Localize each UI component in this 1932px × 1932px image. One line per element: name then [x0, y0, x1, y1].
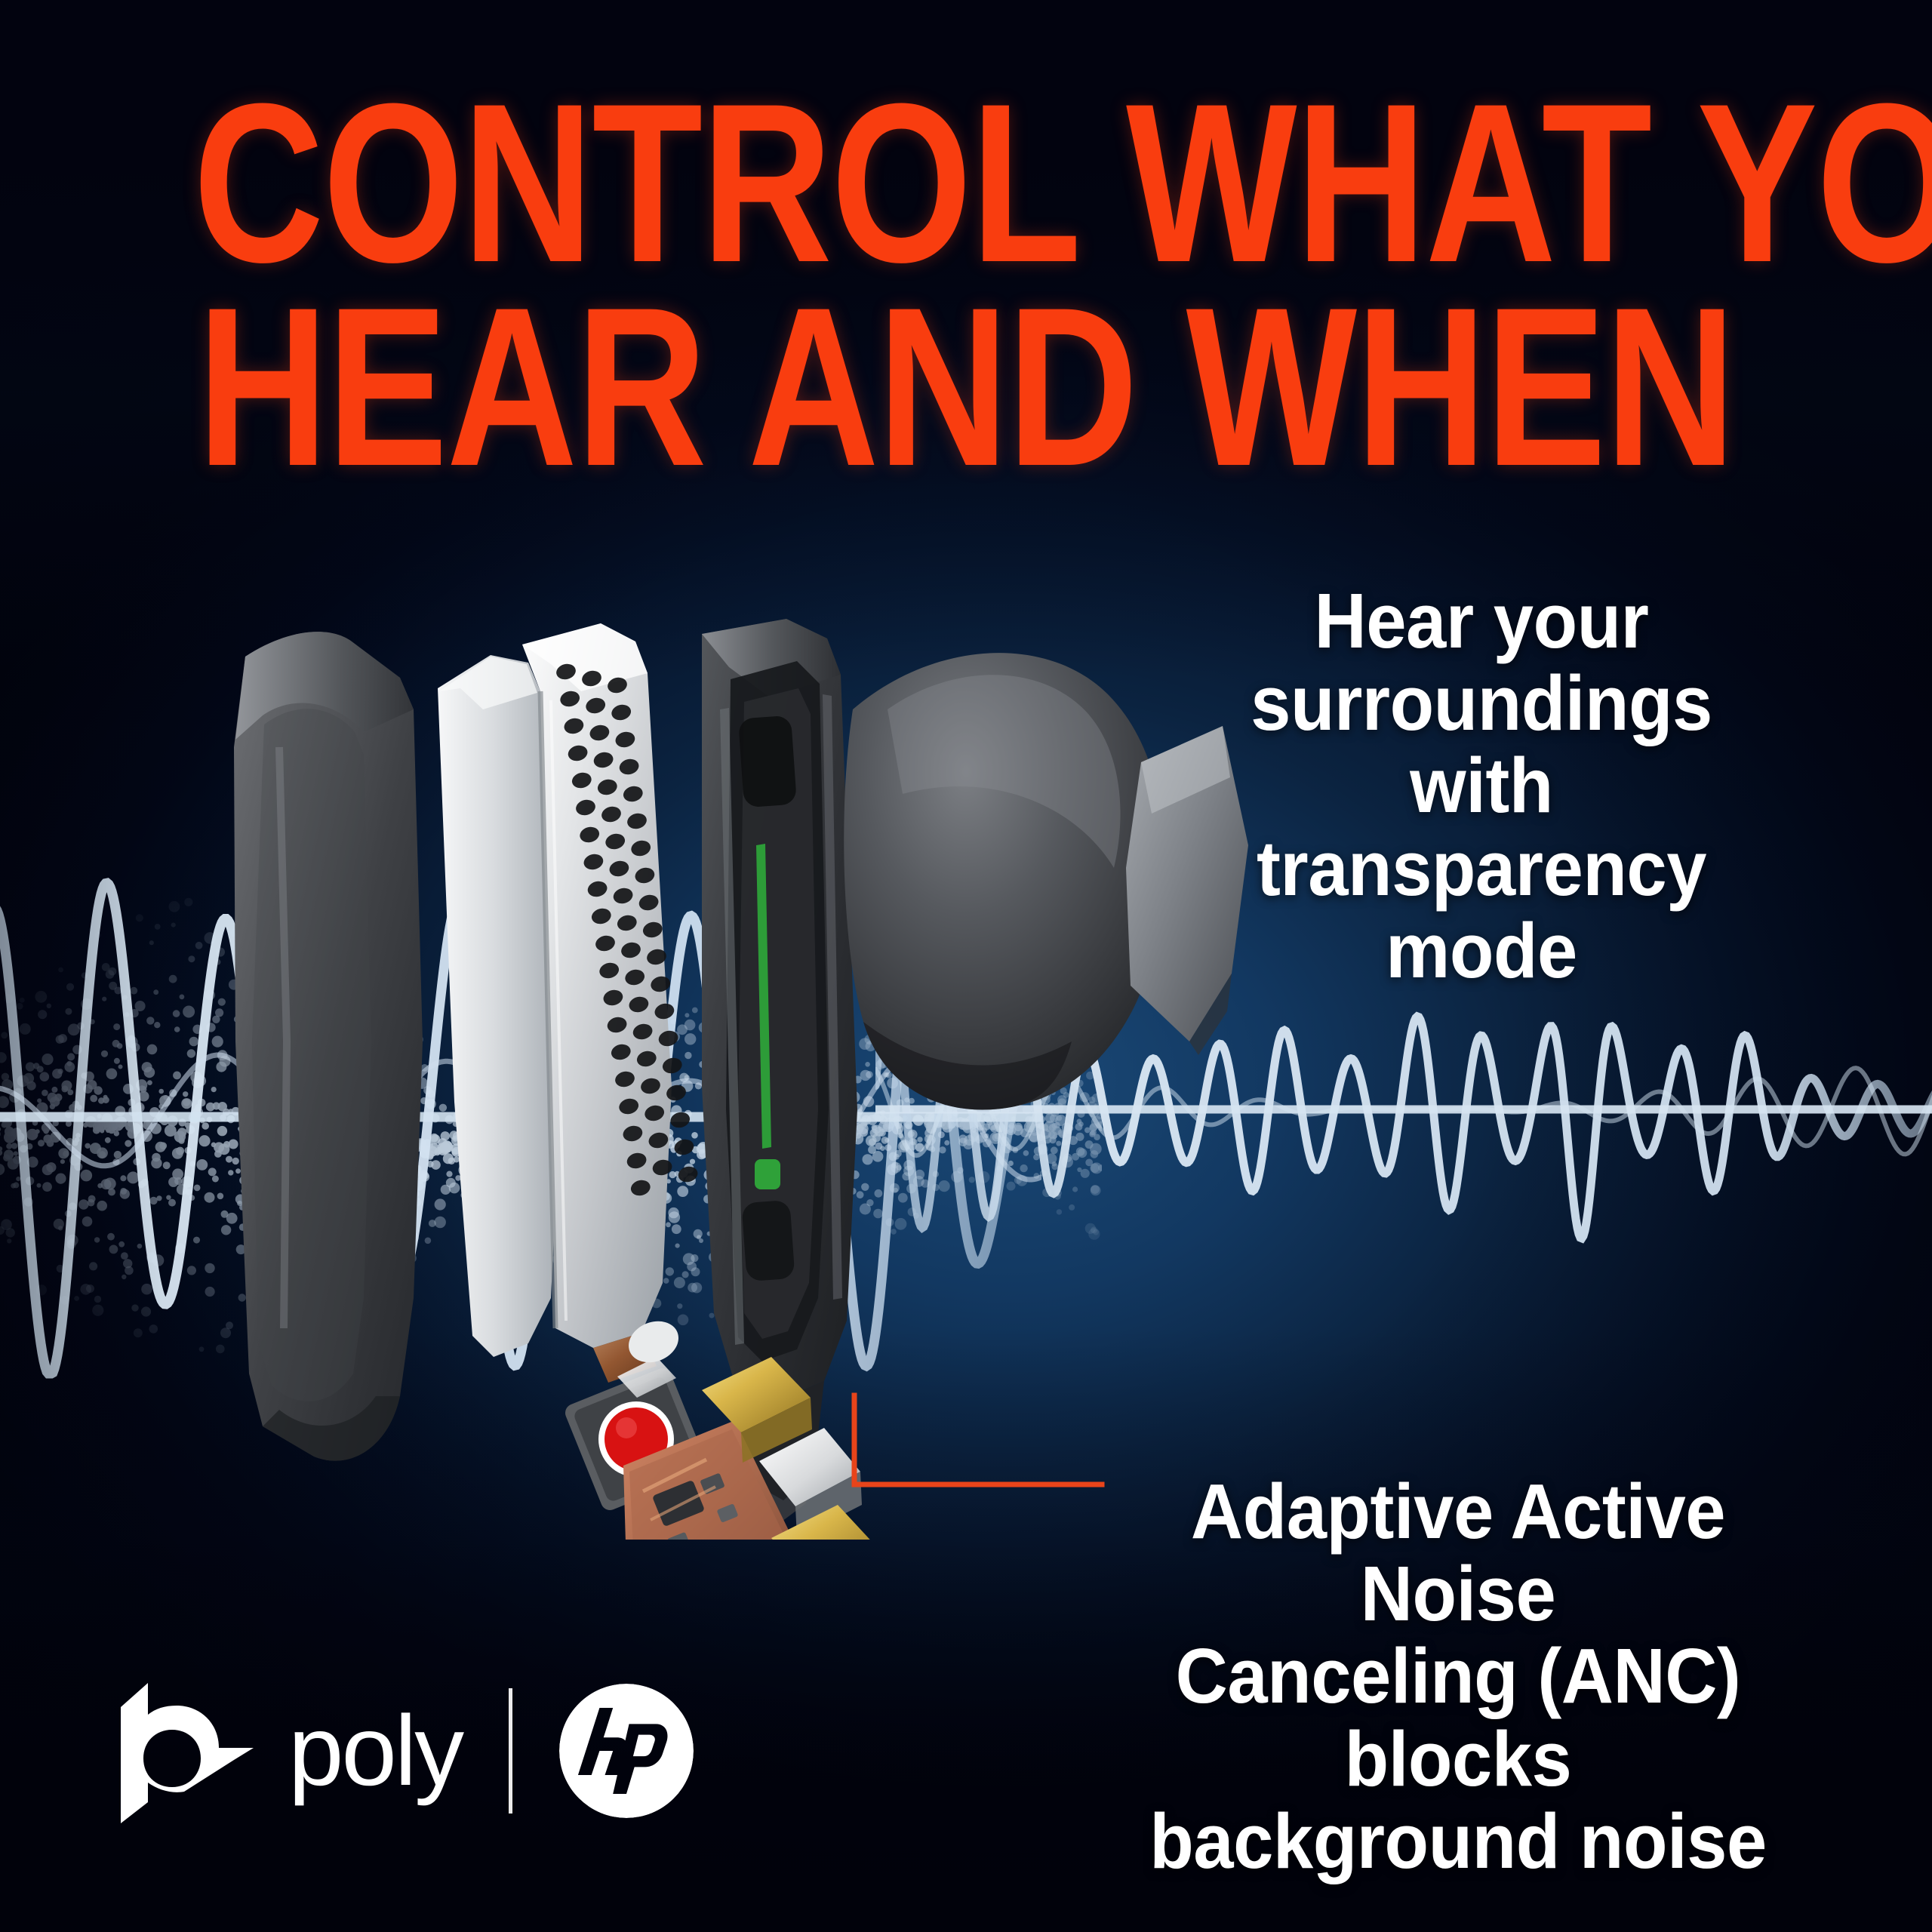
poly-logo: poly [106, 1675, 462, 1826]
caption-anc-line-2: Canceling (ANC) blocks [1093, 1635, 1823, 1799]
caption-transparency-line-1: Hear your [1190, 580, 1773, 662]
poly-p-icon [106, 1675, 254, 1826]
caption-anc-line-3: background noise [1093, 1800, 1823, 1882]
hp-circle-icon [559, 1684, 694, 1818]
perforated-silver-housing [438, 623, 700, 1383]
caption-transparency-mode: Hear your surroundings with transparency… [1168, 580, 1795, 992]
caption-anc-line-1: Adaptive Active Noise [1093, 1470, 1823, 1635]
caption-anc: Adaptive Active Noise Canceling (ANC) bl… [1066, 1470, 1850, 1882]
logo-divider [509, 1688, 512, 1814]
marketing-banner: CONTROL WHAT YOU HEAR AND WHEN Hear your… [0, 0, 1932, 1932]
outer-cover-panel [234, 632, 423, 1460]
ear-tip-body [844, 653, 1165, 1109]
caption-transparency-line-3: transparency [1190, 827, 1773, 909]
logo-lockup: poly [106, 1675, 694, 1826]
caption-transparency-line-4: mode [1190, 909, 1773, 992]
poly-wordmark: poly [288, 1701, 462, 1801]
caption-transparency-line-2: surroundings with [1190, 662, 1773, 826]
